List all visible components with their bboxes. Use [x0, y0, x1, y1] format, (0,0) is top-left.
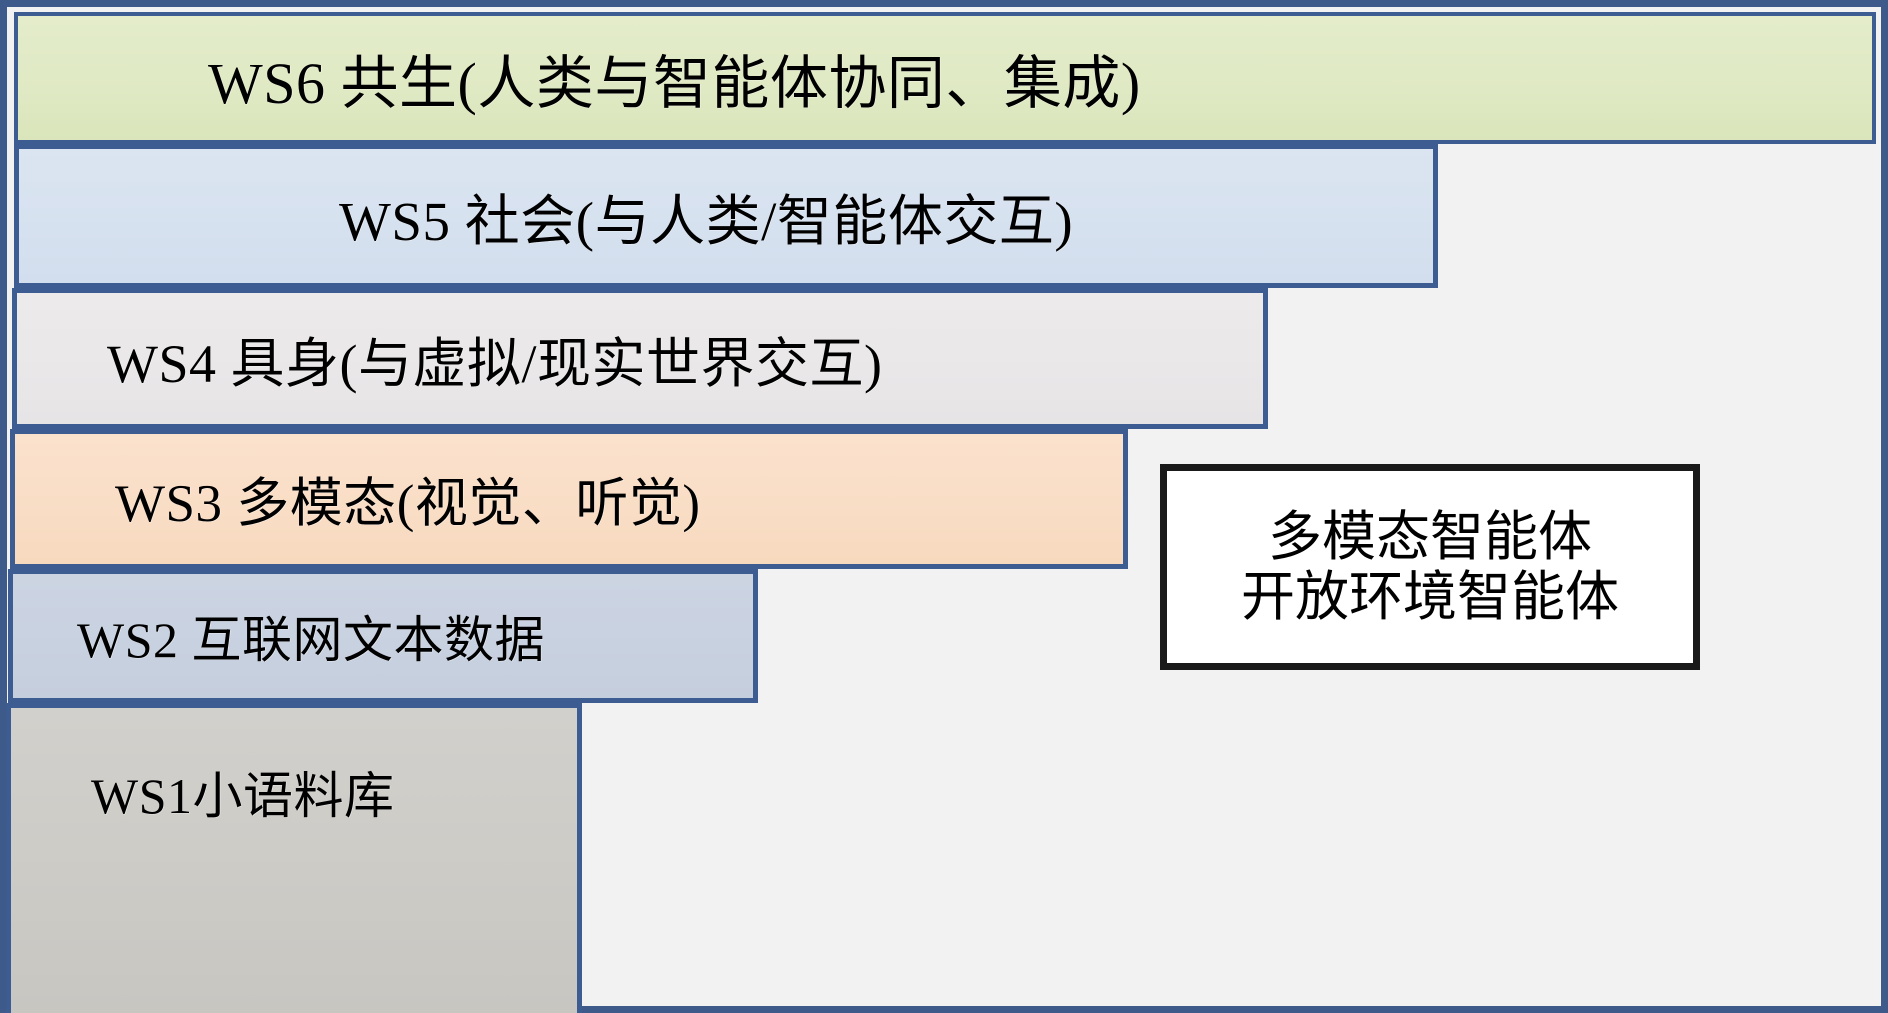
layer-ws6-label: WS6 共生(人类与智能体协同、集成) — [208, 36, 1141, 120]
layer-ws2[interactable]: WS2 互联网文本数据 — [8, 569, 758, 703]
layer-ws5-label: WS5 社会(与人类/智能体交互) — [339, 176, 1073, 256]
layer-ws4[interactable]: WS4 具身(与虚拟/现实世界交互) — [12, 288, 1268, 429]
diagram-canvas: WS6 共生(人类与智能体协同、集成) WS5 社会(与人类/智能体交互) WS… — [0, 0, 1888, 1013]
layer-ws6[interactable]: WS6 共生(人类与智能体协同、集成) — [14, 12, 1876, 144]
layer-ws2-label: WS2 互联网文本数据 — [77, 600, 545, 672]
layer-ws4-label: WS4 具身(与虚拟/现实世界交互) — [107, 319, 882, 398]
layer-ws1-label: WS1小语料库 — [91, 756, 395, 828]
layer-ws5[interactable]: WS5 社会(与人类/智能体交互) — [14, 144, 1438, 288]
layer-ws3[interactable]: WS3 多模态(视觉、听觉) — [10, 429, 1128, 569]
callout-box[interactable]: 多模态智能体 开放环境智能体 — [1160, 464, 1700, 670]
callout-line-1: 多模态智能体 — [1268, 507, 1592, 567]
layer-ws3-label: WS3 多模态(视觉、听觉) — [115, 461, 701, 537]
callout-line-2: 开放环境智能体 — [1241, 567, 1619, 627]
layer-ws1[interactable]: WS1小语料库 — [6, 703, 582, 1013]
